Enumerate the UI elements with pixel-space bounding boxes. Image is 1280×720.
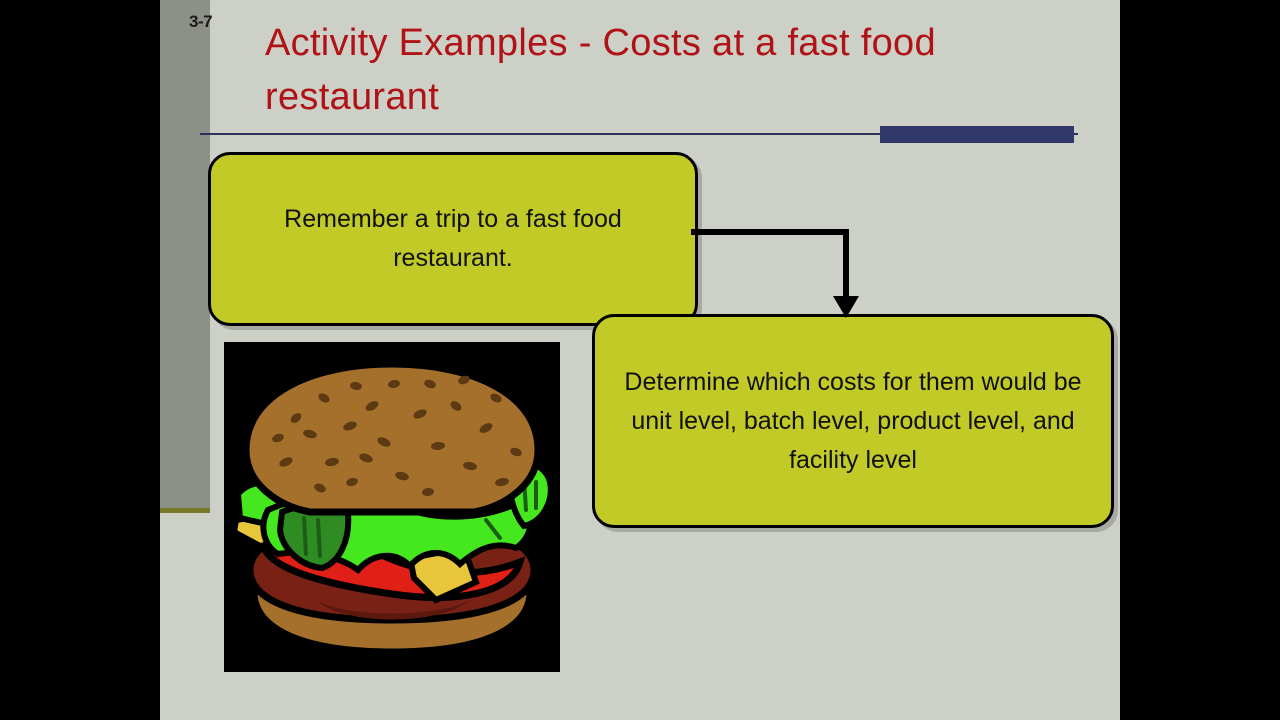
slide-left-accent-foot: [160, 508, 210, 513]
slide-number: 3-7: [189, 12, 212, 32]
callout-box-determine: Determine which costs for them would be …: [592, 314, 1114, 528]
screen: 3-7 Activity Examples - Costs at a fast …: [0, 0, 1280, 720]
presentation-slide: 3-7 Activity Examples - Costs at a fast …: [160, 0, 1120, 720]
callout-box-remember: Remember a trip to a fast food restauran…: [208, 152, 698, 326]
hamburger-icon: [224, 342, 560, 672]
slide-title: Activity Examples - Costs at a fast food…: [265, 16, 1065, 124]
elbow-arrow-connector: [690, 226, 870, 326]
callout-determine-text: Determine which costs for them would be …: [595, 363, 1111, 480]
hamburger-clipart-frame: [224, 342, 560, 672]
title-accent-bar: [880, 126, 1074, 143]
slide-left-accent-band: [160, 0, 210, 508]
callout-remember-text: Remember a trip to a fast food restauran…: [211, 200, 695, 278]
